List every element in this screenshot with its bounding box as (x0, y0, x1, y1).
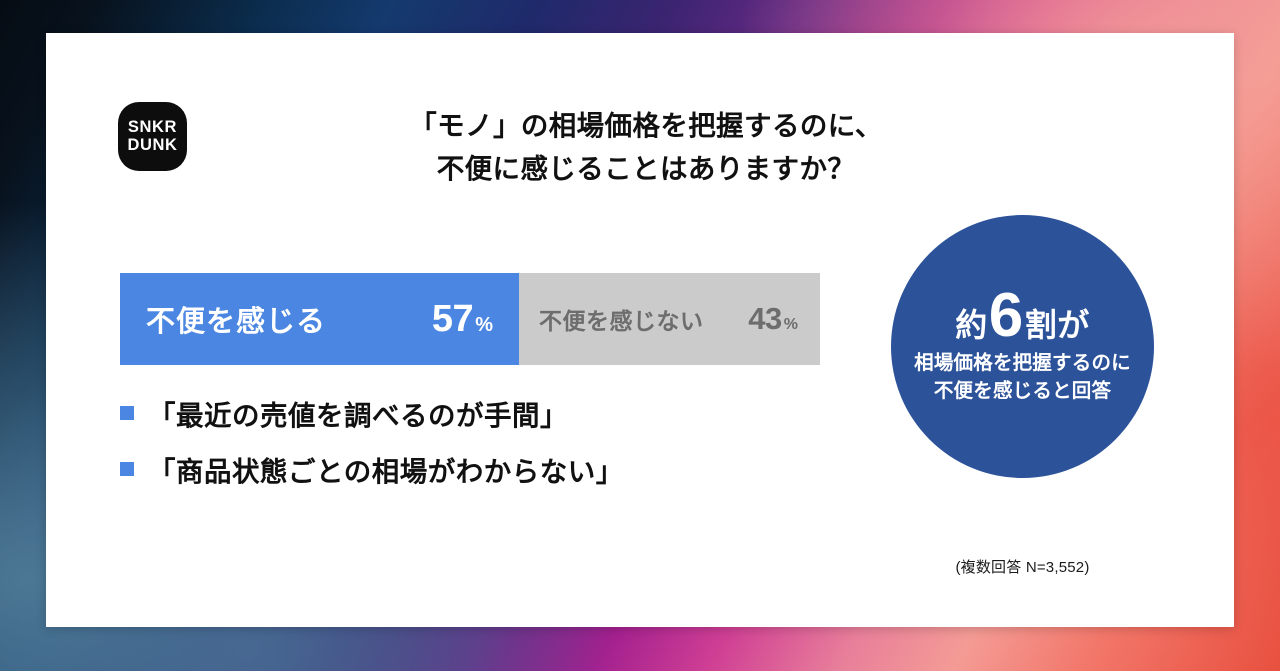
list-item-label: 「最近の売値を調べるのが手間」 (148, 393, 568, 433)
background-gradient: SNKR DUNK 「モノ」の相場価格を把握するのに、 不便に感じることはありま… (0, 0, 1280, 671)
list-item-label: 「商品状態ごとの相場がわからない」 (148, 449, 624, 489)
square-bullet-icon (120, 462, 134, 476)
headline-line-2: 不便に感じることはありますか？ (336, 147, 956, 190)
bar-segment-yes: 不便を感じる 57 % (120, 273, 519, 365)
circle-headline: 約 6 割が (955, 288, 1090, 346)
bar-segment-yes-label: 不便を感じる (146, 298, 326, 340)
bar-segment-yes-value: 57 % (432, 298, 519, 341)
page-title: 「モノ」の相場価格を把握するのに、 不便に感じることはありますか？ (336, 104, 956, 191)
bar-segment-no-label: 不便を感じない (539, 302, 704, 336)
stacked-bar-chart: 不便を感じる 57 % 不便を感じない 43 % (120, 273, 820, 365)
quote-list: 「最近の売値を調べるのが手間」 「商品状態ごとの相場がわからない」 (120, 385, 820, 497)
bar-segment-no-value: 43 % (748, 301, 820, 337)
content-card: SNKR DUNK 「モノ」の相場価格を把握するのに、 不便に感じることはありま… (46, 33, 1234, 627)
circle-number: 6 (989, 288, 1024, 344)
logo-line-2: DUNK (127, 137, 177, 155)
bar-segment-no: 不便を感じない 43 % (519, 273, 820, 365)
bar-segment-no-percent-sign: % (784, 316, 798, 334)
bar-segment-no-number: 43 (748, 301, 781, 337)
circle-subtext-line-1: 相場価格を把握するのに (914, 350, 1131, 378)
circle-prefix: 約 (955, 300, 988, 346)
sample-size-footnote: (複数回答 N=3,552) (891, 556, 1154, 577)
circle-subtext-line-2: 不便を感じると回答 (934, 378, 1111, 406)
headline-line-1: 「モノ」の相場価格を把握するのに、 (336, 104, 956, 147)
snkr-dunk-logo: SNKR DUNK (118, 102, 187, 171)
logo-line-1: SNKR (128, 119, 177, 137)
list-item: 「商品状態ごとの相場がわからない」 (120, 441, 820, 497)
highlight-circle-badge: 約 6 割が 相場価格を把握するのに 不便を感じると回答 (891, 215, 1154, 478)
circle-suffix: 割が (1025, 300, 1090, 346)
list-item: 「最近の売値を調べるのが手間」 (120, 385, 820, 441)
bar-segment-yes-percent-sign: % (475, 314, 493, 337)
bar-segment-yes-number: 57 (432, 298, 473, 341)
square-bullet-icon (120, 406, 134, 420)
